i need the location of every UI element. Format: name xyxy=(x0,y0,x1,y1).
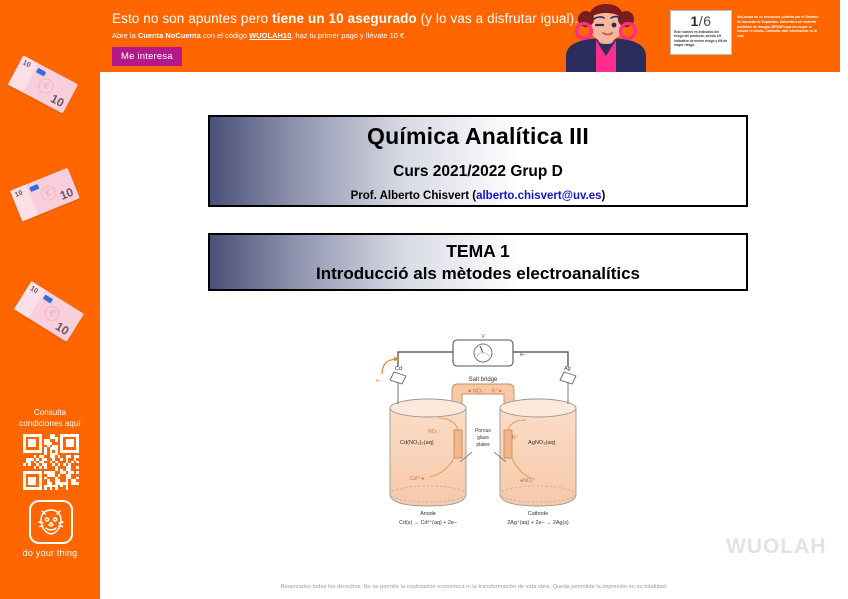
banknote-chip xyxy=(43,295,53,304)
banknote-value-large: 10 xyxy=(48,91,66,110)
risk-value-row: 1/6 xyxy=(691,13,712,29)
anode-electrode-label: Cd xyxy=(395,366,402,372)
conditions-line-1: Consulta xyxy=(0,407,100,418)
anode-solution-label: Cd(NO₃)₂(aq) xyxy=(400,440,434,446)
topic-box: TEMA 1 Introducció als mètodes electroan… xyxy=(208,233,748,291)
banknote-chip xyxy=(36,68,46,77)
banknote-value-large: 10 xyxy=(53,319,72,338)
banknote-value-large: 10 xyxy=(58,185,76,203)
wuolah-watermark: WUOLAH xyxy=(726,535,826,559)
anode-label: Anode xyxy=(420,511,436,517)
promo-subtext-part-3: , haz tu primer pago y llévate 10 €. xyxy=(291,31,406,40)
cathode-label: Cathode xyxy=(528,511,548,517)
voltmeter-label: V xyxy=(481,334,485,340)
promo-subtext-part-1: Abre la xyxy=(112,31,138,40)
banknote-chip xyxy=(29,184,39,192)
banknote-graphic: € 10 10 xyxy=(14,281,84,342)
brand-tagline: do your thing xyxy=(0,548,100,558)
banknote-graphic: € 10 10 xyxy=(10,168,80,222)
copyright-footnote: Reservados todos los derechos. No se per… xyxy=(100,584,848,590)
professor-prefix: Prof. Alberto Chisvert ( xyxy=(351,190,476,202)
risk-scale-max: 6 xyxy=(703,13,711,29)
promo-code[interactable]: WUOLAH10 xyxy=(249,31,291,40)
promo-headline-bold: tiene un 10 asegurado xyxy=(272,11,417,26)
promo-subtext: Abre la Cuenta NoCuenta con el código WU… xyxy=(112,31,406,40)
conditions-text: Consulta condiciones aquí xyxy=(0,407,100,429)
topic-number: TEMA 1 xyxy=(210,241,746,262)
promo-subtext-part-2: con el código xyxy=(201,31,249,40)
porous-plates-label-3: plates xyxy=(476,442,490,448)
promo-headline-part-1: Esto no son apuntes pero xyxy=(112,11,272,26)
electron-label-left: e– xyxy=(376,378,382,384)
anode-anion-label: NO₃⁻ xyxy=(428,429,441,435)
cathode-electrode-label: Ag xyxy=(564,366,571,372)
risk-value: 1 xyxy=(691,13,699,29)
mascot-illustration xyxy=(558,4,654,72)
anode-cation-label: Cd²⁺● xyxy=(410,476,424,482)
cathode-cation-label: K⁺ xyxy=(512,435,518,441)
course-year: Curs 2021/2022 Grup D xyxy=(210,163,746,181)
ad-sidebar: € 10 10 € 10 10 € 10 10 Consulta condici… xyxy=(0,0,100,599)
qr-code[interactable] xyxy=(23,434,79,490)
professor-email-link[interactable]: alberto.chisvert@uv.es xyxy=(476,190,601,202)
lion-logo xyxy=(29,500,73,544)
page-root: € 10 10 € 10 10 € 10 10 Consulta condici… xyxy=(0,0,848,599)
cathode-equation: 2Ag⁺(aq) + 2e– → 2Ag(s) xyxy=(507,520,569,526)
risk-caption: Este número es indicativo del riesgo del… xyxy=(671,29,731,48)
cathode-solution-label: AgNO₃(aq) xyxy=(528,440,556,446)
promo-headline: Esto no son apuntes pero tiene un 10 ase… xyxy=(112,11,578,26)
electron-label-right: e– xyxy=(520,352,526,358)
euro-symbol: € xyxy=(38,183,58,203)
document-page: Química Analítica III Curs 2021/2022 Gru… xyxy=(100,72,848,599)
course-title-box: Química Analítica III Curs 2021/2022 Gru… xyxy=(208,115,748,207)
risk-disclaimer: NoCuenta no se encuentra cubierta por el… xyxy=(732,10,826,55)
me-interesa-button[interactable]: Me interesa xyxy=(112,47,182,66)
risk-indicator: 1/6 Este número es indicativo del riesgo… xyxy=(670,10,826,55)
salt-bridge-anion: ● NO₃⁻ xyxy=(468,389,486,395)
promo-headline-part-2: (y lo vas a disfrutar igual). xyxy=(417,11,578,26)
salt-bridge-label: Salt bridge xyxy=(469,377,498,383)
porous-plates-label-2: glass xyxy=(477,435,489,441)
topic-title: Introducció als mètodes electroanalítics xyxy=(210,264,746,284)
professor-line: Prof. Alberto Chisvert (alberto.chisvert… xyxy=(210,190,746,202)
salt-bridge-cation: K⁺● xyxy=(492,389,502,395)
galvanic-cell-diagram: V e– e– Salt bridge ● NO₃⁻ K⁺● xyxy=(368,334,598,529)
anode-equation: Cd(s) → Cd²⁺(aq) + 2e– xyxy=(399,520,457,526)
professor-suffix: ) xyxy=(602,190,606,202)
promo-banner: Esto no son apuntes pero tiene un 10 ase… xyxy=(100,0,840,72)
conditions-line-2: condiciones aquí xyxy=(0,418,100,429)
banknote-graphic: € 10 10 xyxy=(8,55,78,113)
risk-indicator-scale: 1/6 Este número es indicativo del riesgo… xyxy=(670,10,732,55)
course-title: Química Analítica III xyxy=(210,123,746,150)
promo-subtext-product: Cuenta NoCuenta xyxy=(138,31,201,40)
porous-plates-label-1: Porous xyxy=(475,428,491,434)
